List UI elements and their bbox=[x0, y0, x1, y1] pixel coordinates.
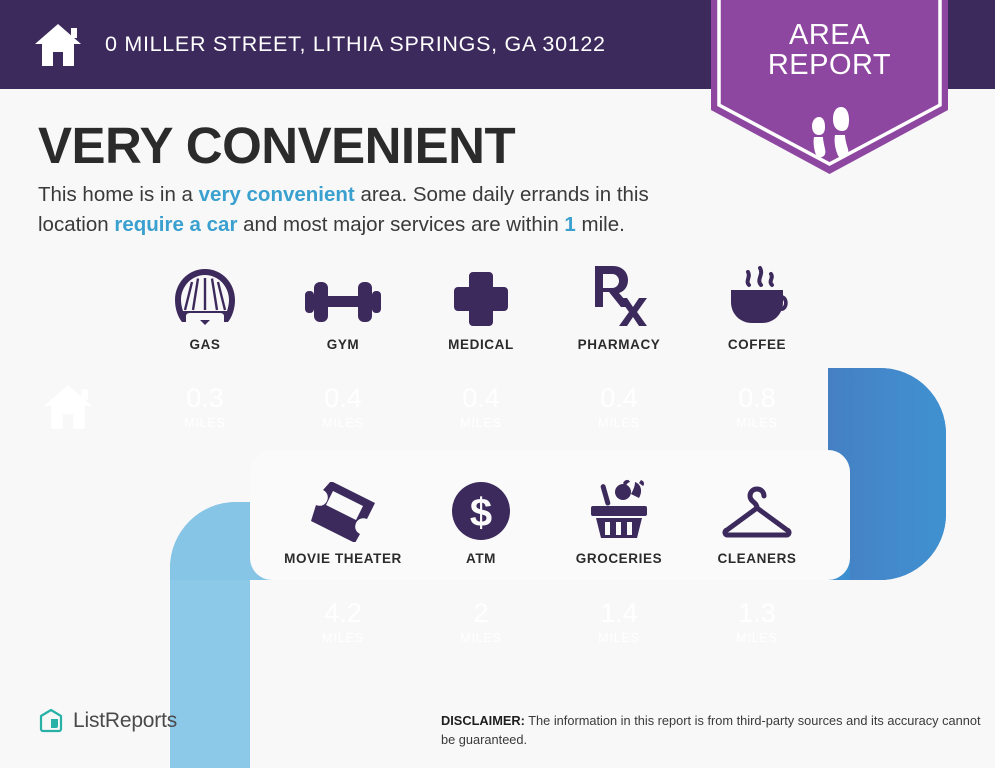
rx-icon bbox=[589, 258, 649, 328]
amenity-pharmacy: PHARMACY bbox=[550, 258, 688, 352]
distance-row-2: 4.2 MILES 2 MILES 1.4 MILES 1.3 MILES bbox=[274, 583, 826, 661]
distance-cell: 1.4 MILES bbox=[550, 583, 688, 661]
badge-label: AREA REPORT bbox=[711, 20, 948, 81]
amenity-label: CLEANERS bbox=[717, 551, 796, 566]
amenity-label: MOVIE THEATER bbox=[284, 551, 402, 566]
distance-unit: MILES bbox=[322, 631, 364, 645]
distance-unit: MILES bbox=[736, 631, 778, 645]
distance-cell: 0.3 MILES bbox=[136, 368, 274, 446]
distance-cell: 1.3 MILES bbox=[688, 583, 826, 661]
home-icon bbox=[41, 383, 95, 431]
distance-unit: MILES bbox=[460, 416, 502, 430]
distance-value: 2 bbox=[473, 600, 488, 627]
area-report-badge: AREA REPORT bbox=[711, 0, 948, 174]
distance-value: 1.4 bbox=[600, 600, 638, 627]
amenity-icon-row-2: MOVIE THEATER $ ATM bbox=[274, 472, 826, 566]
amenity-label: PHARMACY bbox=[578, 337, 661, 352]
distance-unit: MILES bbox=[322, 416, 364, 430]
amenity-gas: GAS bbox=[136, 258, 274, 352]
amenity-movie-theater: MOVIE THEATER bbox=[274, 472, 412, 566]
movie-ticket-icon bbox=[307, 472, 379, 542]
dollar-circle-icon: $ bbox=[450, 472, 512, 542]
amenity-gym: GYM bbox=[274, 258, 412, 352]
medical-cross-icon bbox=[452, 258, 510, 328]
distance-unit: MILES bbox=[736, 416, 778, 430]
amenity-icon-row-1: GAS GYM MEDICAL bbox=[136, 258, 966, 352]
home-marker-cell bbox=[0, 368, 136, 446]
amenity-coffee: COFFEE bbox=[688, 258, 826, 352]
distance-cell: 0.4 MILES bbox=[412, 368, 550, 446]
listreports-name: ListReports bbox=[73, 709, 177, 733]
amenity-label: ATM bbox=[466, 551, 496, 566]
grocery-basket-icon bbox=[583, 472, 655, 542]
distance-value: 0.4 bbox=[600, 385, 638, 412]
amenity-groceries: GROCERIES bbox=[550, 472, 688, 566]
amenity-cleaners: CLEANERS bbox=[688, 472, 826, 566]
gas-shell-icon bbox=[172, 258, 238, 328]
distance-value: 0.4 bbox=[462, 385, 500, 412]
badge-line1: AREA bbox=[789, 19, 870, 51]
coffee-cup-icon bbox=[723, 258, 791, 328]
distance-cell: 2 MILES bbox=[412, 583, 550, 661]
distance-unit: MILES bbox=[184, 416, 226, 430]
dumbbell-icon bbox=[304, 258, 382, 328]
distance-value: 4.2 bbox=[324, 600, 362, 627]
amenity-label: GROCERIES bbox=[576, 551, 662, 566]
distance-unit: MILES bbox=[598, 416, 640, 430]
area-report-page: 0 MILLER STREET, LITHIA SPRINGS, GA 3012… bbox=[0, 0, 995, 768]
distance-value: 0.8 bbox=[738, 385, 776, 412]
amenity-label: GYM bbox=[327, 337, 360, 352]
distance-value: 0.4 bbox=[324, 385, 362, 412]
distance-row-1: 0.3 MILES 0.4 MILES 0.4 MILES 0.4 MILES … bbox=[136, 368, 826, 446]
badge-line2: REPORT bbox=[711, 50, 948, 80]
amenity-label: COFFEE bbox=[728, 337, 786, 352]
distance-value: 0.3 bbox=[186, 385, 224, 412]
distance-cell: 4.2 MILES bbox=[274, 583, 412, 661]
amenity-label: GAS bbox=[189, 337, 220, 352]
clothes-hanger-icon bbox=[719, 472, 795, 542]
listreports-logo[interactable]: ListReports bbox=[38, 708, 177, 734]
listreports-house-icon bbox=[38, 708, 64, 734]
distance-cell: 0.8 MILES bbox=[688, 368, 826, 446]
amenity-medical: MEDICAL bbox=[412, 258, 550, 352]
amenity-atm: $ ATM bbox=[412, 472, 550, 566]
amenity-label: MEDICAL bbox=[448, 337, 514, 352]
distance-value: 1.3 bbox=[738, 600, 776, 627]
svg-text:$: $ bbox=[470, 491, 492, 535]
distance-unit: MILES bbox=[598, 631, 640, 645]
disclaimer-label: DISCLAIMER: bbox=[441, 713, 525, 728]
distance-unit: MILES bbox=[460, 631, 502, 645]
distance-cell: 0.4 MILES bbox=[550, 368, 688, 446]
distance-cell: 0.4 MILES bbox=[274, 368, 412, 446]
disclaimer: DISCLAIMER: The information in this repo… bbox=[441, 712, 986, 749]
